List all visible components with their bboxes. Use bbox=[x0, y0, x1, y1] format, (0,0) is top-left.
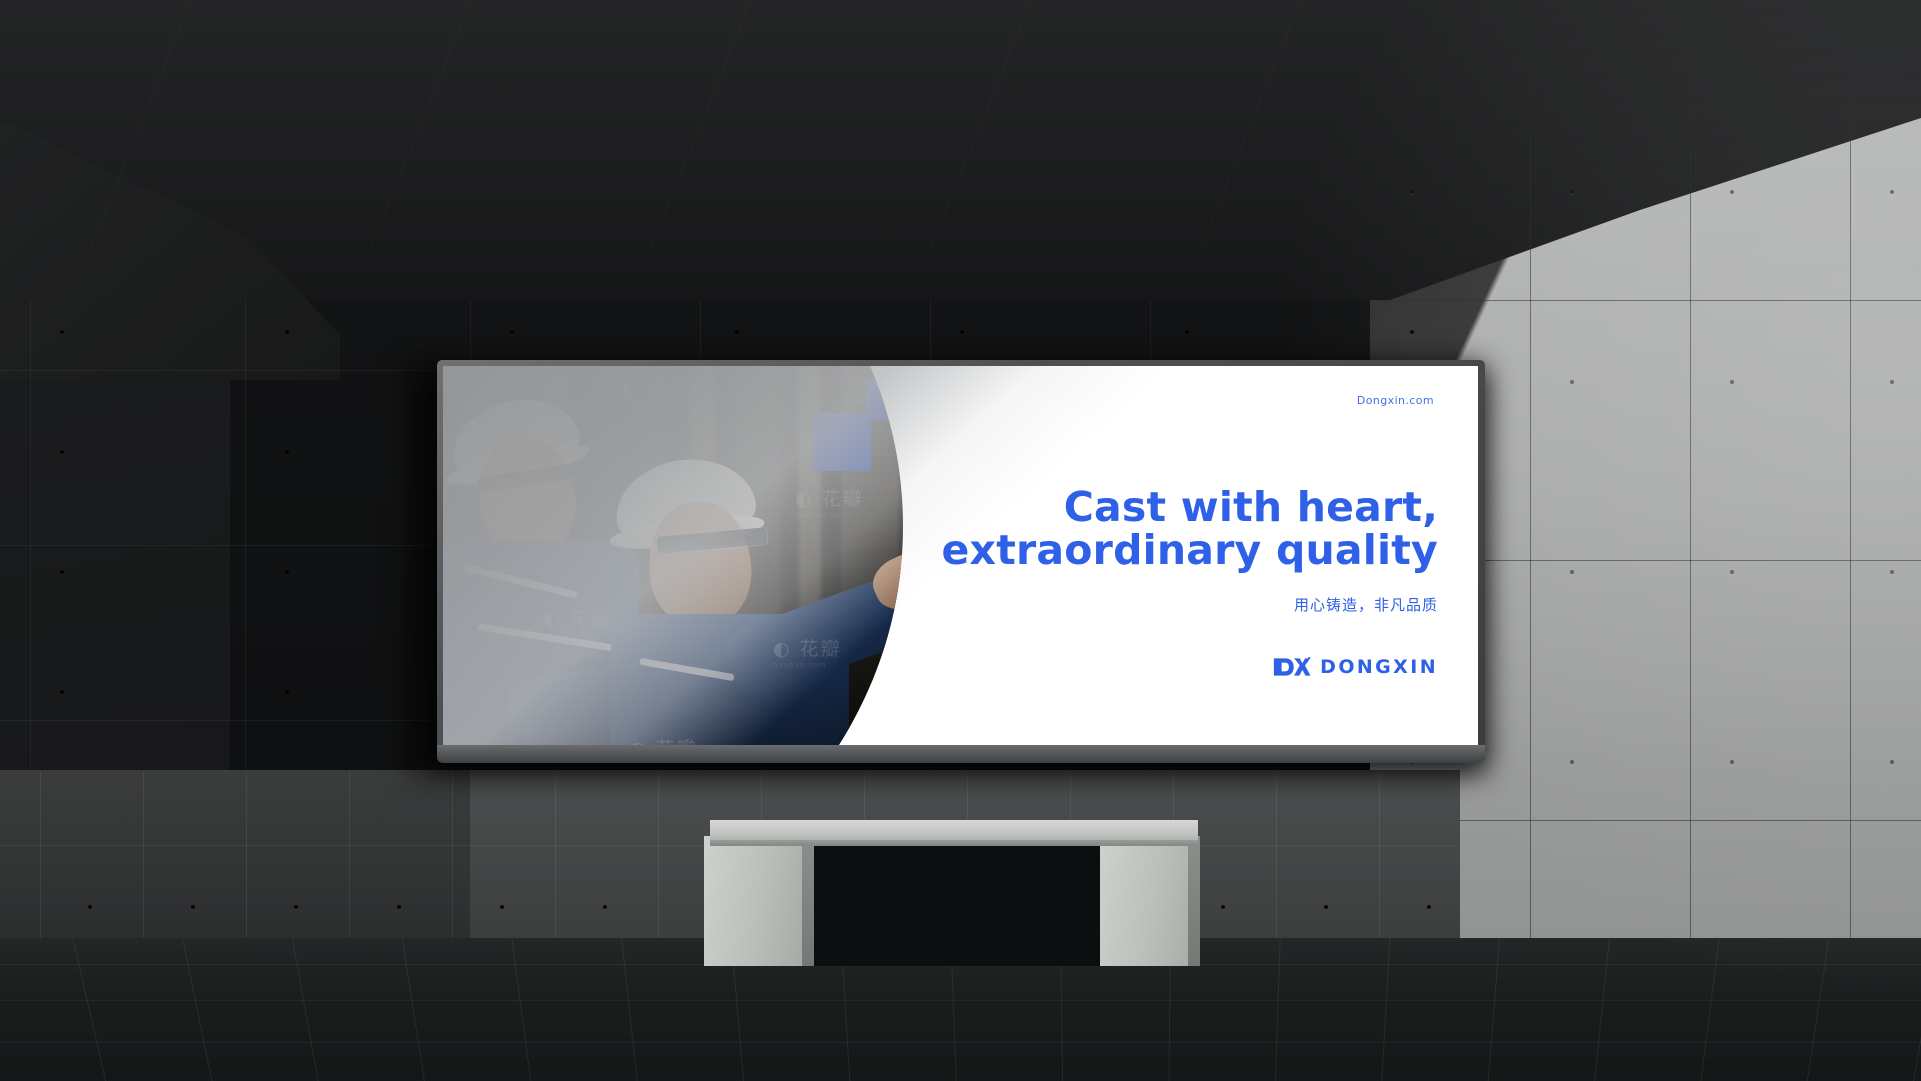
headline-line-1: Cast with heart, bbox=[1064, 483, 1438, 531]
dongxin-logo-icon bbox=[1273, 656, 1311, 678]
billboard-bezel-bottom bbox=[437, 745, 1485, 763]
headline: Cast with heart, extraordinary quality bbox=[698, 486, 1438, 571]
subline-chinese: 用心铸造，非凡品质 bbox=[1294, 594, 1438, 615]
billboard-mockup-scene: ◐ 花瓣huaban.com◐ 花瓣huaban.com◐ 花瓣huaban.c… bbox=[0, 0, 1921, 1081]
bench-leg-right bbox=[1100, 836, 1198, 966]
bench-leg-left bbox=[704, 836, 802, 966]
bench-recess-shadow bbox=[788, 838, 1106, 966]
bench-seat-slab bbox=[710, 820, 1198, 842]
logo-wordmark: DONGXIN bbox=[1320, 656, 1438, 678]
billboard-display[interactable]: ◐ 花瓣huaban.com◐ 花瓣huaban.com◐ 花瓣huaban.c… bbox=[437, 360, 1485, 760]
bench-seat-edge bbox=[710, 840, 1198, 846]
headline-line-2: extraordinary quality bbox=[698, 529, 1438, 572]
concrete-bench bbox=[718, 820, 1190, 980]
brand-logo: DONGXIN bbox=[1273, 656, 1438, 678]
website-url[interactable]: Dongxin.com bbox=[1357, 394, 1434, 407]
bench-leg-right-side bbox=[1188, 836, 1200, 966]
bench-leg-left-side bbox=[802, 836, 814, 966]
billboard-screen[interactable]: ◐ 花瓣huaban.com◐ 花瓣huaban.com◐ 花瓣huaban.c… bbox=[443, 366, 1478, 750]
